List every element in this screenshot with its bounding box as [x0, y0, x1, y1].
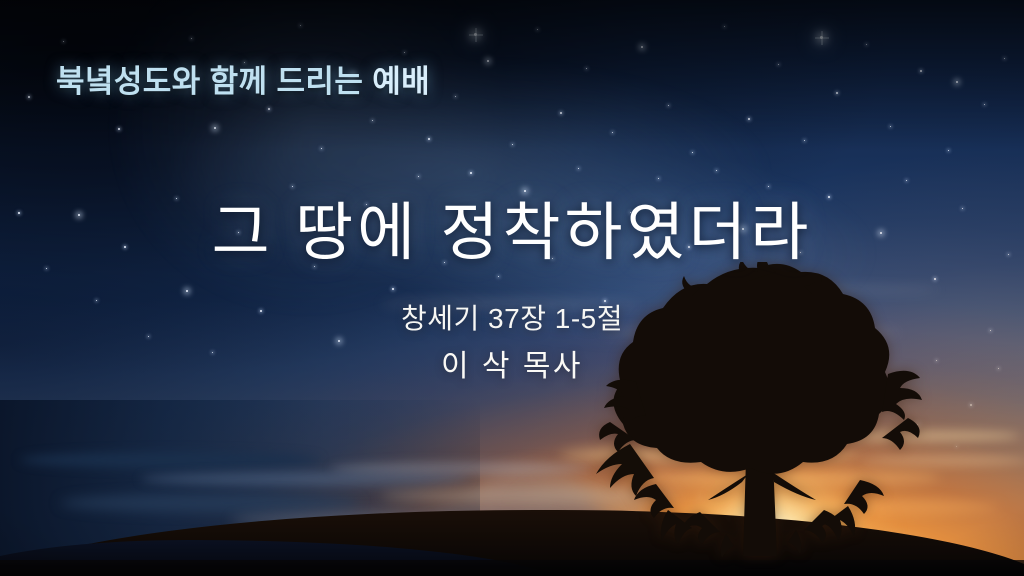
twilight-cloud	[140, 472, 470, 486]
kicker-rest: 와 함께 드리는	[172, 64, 373, 99]
sermon-title: 그 땅에 정착하였더라	[0, 182, 1024, 273]
twilight-cloud	[20, 452, 320, 468]
scripture-reference: 창세기 37장 1-5절	[0, 297, 1024, 337]
speaker-name: 이 삭 목사	[0, 341, 1024, 385]
twilight-cloud	[60, 494, 360, 512]
worship-title-slide: 북녘성도와 함께 드리는 예배 그 땅에 정착하였더라 창세기 37장 1-5절…	[0, 0, 1024, 576]
kicker-emphasis: 예배	[372, 64, 430, 99]
service-kicker: 북녘성도와 함께 드리는 예배	[56, 56, 430, 101]
kicker-lead: 북녘성도	[56, 64, 172, 99]
